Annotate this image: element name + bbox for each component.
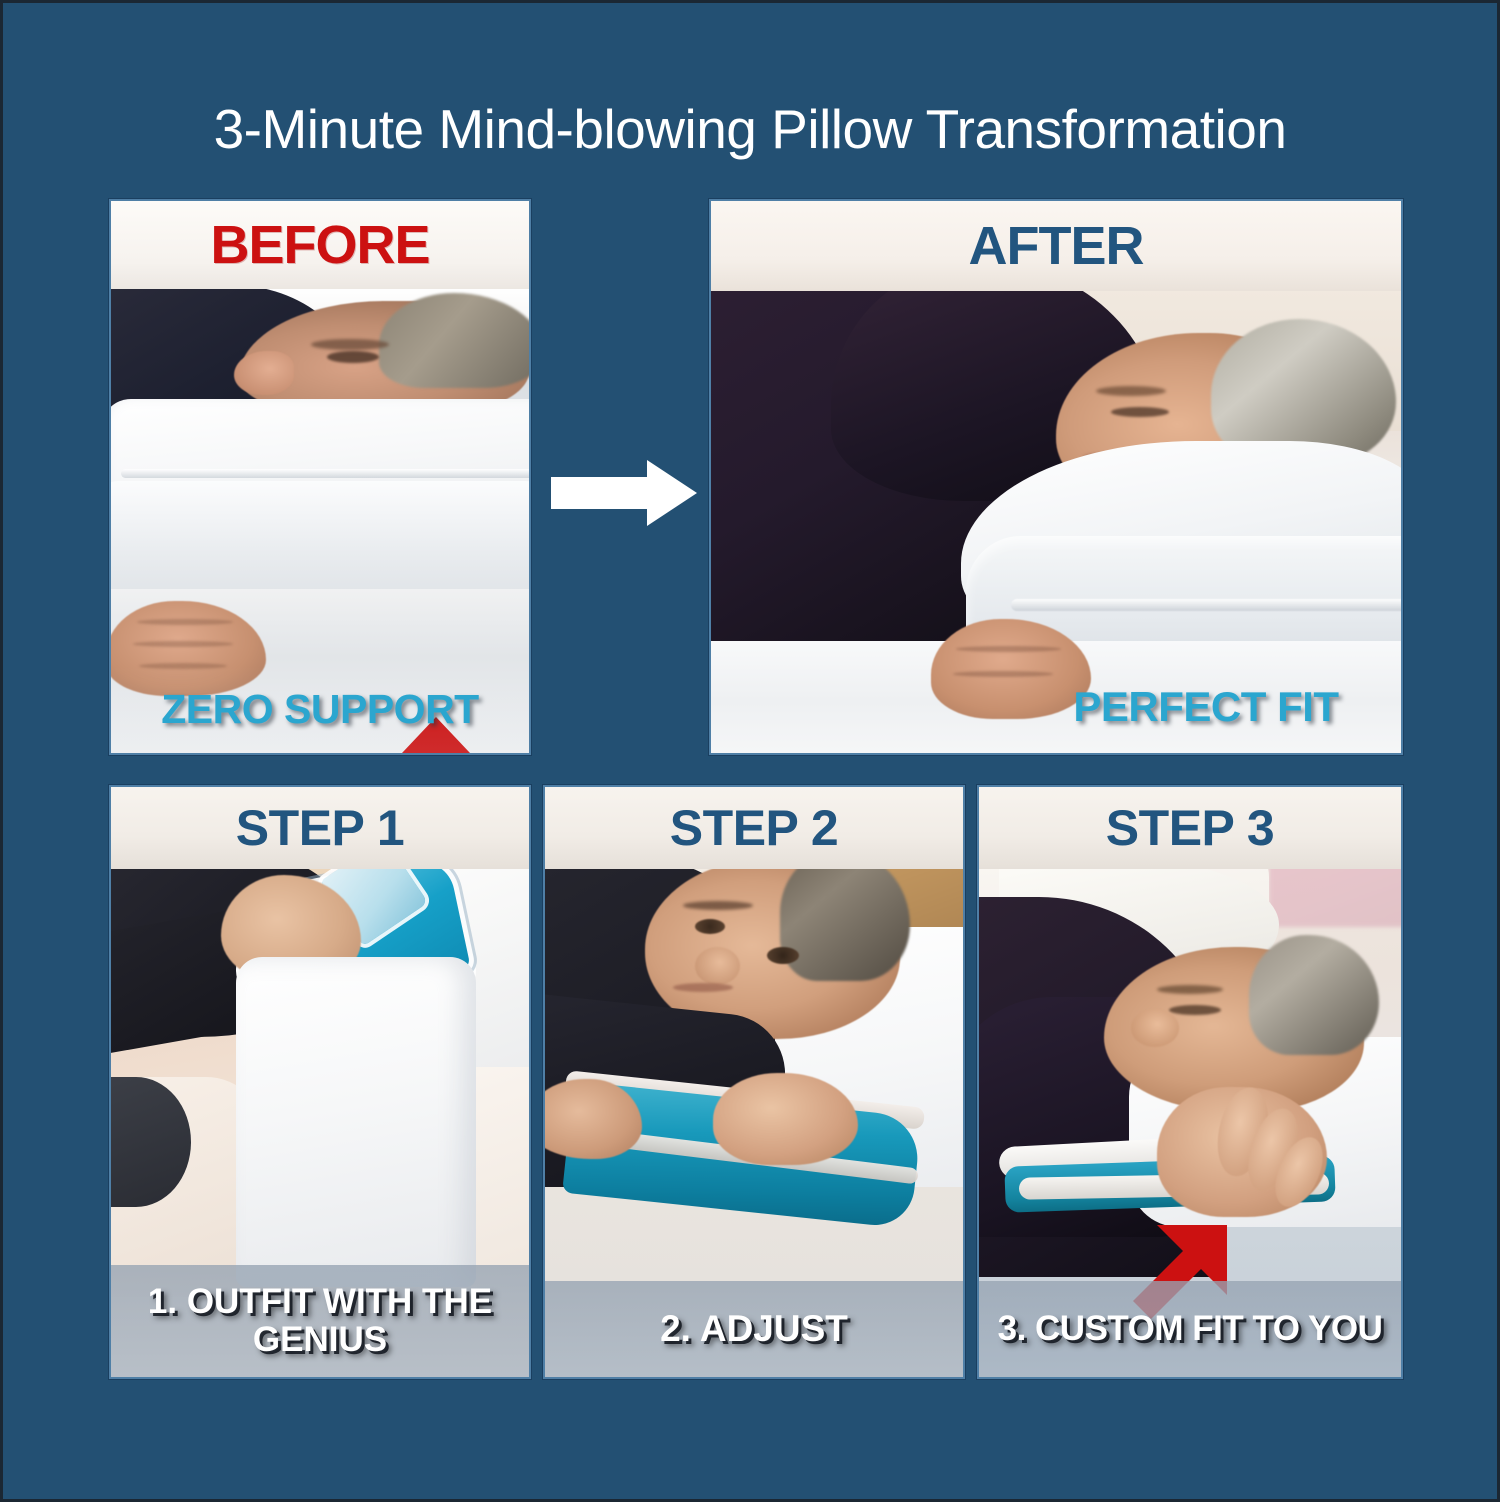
- before-pillow-seam: [121, 469, 529, 478]
- after-hand-crease-1: [956, 646, 1061, 652]
- step-3-panel[interactable]: STEP 3 3. CUSTOM FIT TO YOU: [977, 785, 1403, 1379]
- before-person-hair: [379, 293, 529, 388]
- after-panel[interactable]: AFTER PERFECT FIT: [709, 199, 1403, 755]
- before-caption-text: ZERO SUPPORT: [161, 689, 478, 730]
- before-header-band: BEFORE: [111, 201, 529, 289]
- step-2-header-label: STEP 2: [670, 803, 838, 853]
- after-person-eye: [1111, 407, 1169, 417]
- step-2-person-eye-left: [695, 919, 725, 934]
- after-caption-bar: PERFECT FIT: [711, 661, 1401, 753]
- step-1-caption-bar: 1. OUTFIT WITH THE GENIUS: [111, 1265, 529, 1377]
- before-pillow-lower: [111, 481, 529, 601]
- step-3-header-band: STEP 3: [979, 787, 1401, 869]
- step-2-caption-bar: 2. ADJUST: [545, 1281, 963, 1377]
- step-3-caption-text: 3. CUSTOM FIT TO YOU: [990, 1310, 1391, 1348]
- step-3-header-label: STEP 3: [1106, 803, 1274, 853]
- before-header-label: BEFORE: [210, 218, 429, 272]
- before-panel[interactable]: BEFORE ZERO SUPPORT: [109, 199, 531, 755]
- before-person-nose: [234, 351, 294, 395]
- page-title: 3-Minute Mind-blowing Pillow Transformat…: [3, 99, 1497, 160]
- step-1-pillow: [236, 957, 476, 1287]
- step-2-person-eye-right: [767, 947, 799, 964]
- step-3-person-nose: [1131, 1009, 1179, 1047]
- before-person-eye: [327, 351, 379, 363]
- after-caption-text: PERFECT FIT: [1073, 686, 1338, 728]
- step-2-person-eyebrow: [683, 901, 753, 910]
- step-3-person-eyebrow: [1157, 985, 1223, 994]
- before-hand-crease-1: [137, 619, 233, 625]
- step-1-caption-text: 1. OUTFIT WITH THE GENIUS: [111, 1283, 529, 1359]
- step-2-person-mouth: [673, 983, 733, 992]
- after-header-band: AFTER: [711, 201, 1401, 291]
- step-2-caption-text: 2. ADJUST: [652, 1309, 856, 1349]
- step-1-header-label: STEP 1: [236, 803, 404, 853]
- step-1-header-band: STEP 1: [111, 787, 529, 869]
- after-person-eyebrow: [1096, 386, 1166, 396]
- step-1-panel[interactable]: STEP 1 1. OUTFIT WITH THE GENIUS: [109, 785, 531, 1379]
- before-hand-crease-2: [133, 641, 233, 647]
- after-pillow-seam: [1011, 599, 1401, 611]
- before-person-eyebrow: [311, 339, 389, 350]
- step-3-person-eye: [1169, 1005, 1221, 1015]
- before-caption-bar: ZERO SUPPORT: [111, 665, 529, 753]
- step-3-caption-bar: 3. CUSTOM FIT TO YOU: [979, 1281, 1401, 1377]
- step-2-header-band: STEP 2: [545, 787, 963, 869]
- step-2-panel[interactable]: STEP 2 2. ADJUST: [543, 785, 965, 1379]
- step-2-person-nose: [695, 947, 740, 985]
- right-arrow-icon: [551, 458, 699, 528]
- after-header-label: AFTER: [969, 219, 1144, 273]
